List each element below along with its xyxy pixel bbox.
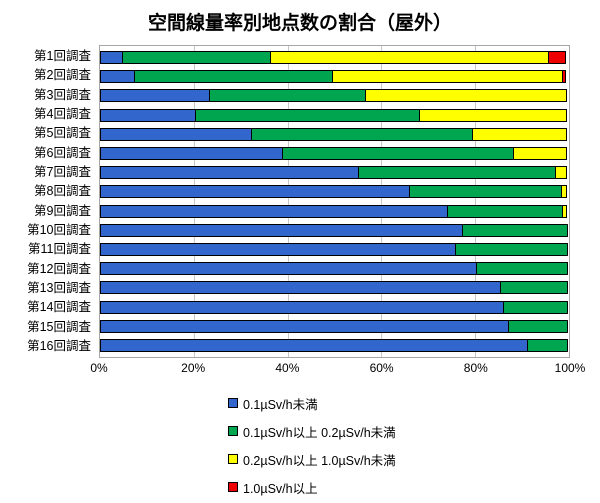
bar-row [100, 243, 569, 256]
bar-row [100, 205, 569, 218]
bar-row [100, 147, 569, 160]
y-axis-tick-label: 第15回調査 [0, 321, 95, 334]
bar-row [100, 224, 569, 237]
chart-container: 空間線量率別地点数の割合（屋外） 第1回調査第2回調査第3回調査第4回調査第5回… [0, 0, 600, 503]
bar-row [100, 109, 569, 122]
bar-segment [409, 185, 562, 198]
x-axis-tick-label: 60% [370, 361, 394, 375]
bar-segment [476, 262, 568, 275]
bar-row [100, 339, 569, 352]
bar-segment [555, 166, 567, 179]
y-axis-tick-label: 第12回調査 [0, 263, 95, 276]
bar-row [100, 185, 569, 198]
bar-row [100, 281, 569, 294]
bar-segment [513, 147, 567, 160]
x-axis-tick-label: 100% [555, 361, 586, 375]
y-axis-tick-label: 第13回調査 [0, 282, 95, 295]
bar-row [100, 262, 569, 275]
legend-color-swatch-icon [228, 426, 238, 436]
bar-segment [447, 205, 563, 218]
bar-segment [365, 89, 567, 102]
bar-segment [332, 70, 563, 83]
bar-segment [472, 128, 567, 141]
bar-row [100, 128, 569, 141]
bar-segment [100, 147, 283, 160]
y-axis-tick-label: 第1回調査 [0, 50, 95, 63]
bar-segment [100, 70, 135, 83]
x-axis-labels: 0%20%40%60%80%100% [99, 361, 570, 379]
bar-segment [561, 185, 567, 198]
y-axis-labels: 第1回調査第2回調査第3回調査第4回調査第5回調査第6回調査第7回調査第8回調査… [0, 45, 95, 358]
bar-row [100, 301, 569, 314]
bar-segment [195, 109, 420, 122]
bar-segment [100, 128, 252, 141]
bar-row [100, 89, 569, 102]
y-axis-tick-label: 第8回調査 [0, 185, 95, 198]
chart-legend: 0.1µSv/h未満0.1µSv/h以上 0.2µSv/h未満0.2µSv/h以… [228, 389, 588, 501]
y-axis-tick-label: 第3回調査 [0, 89, 95, 102]
bar-segment [455, 243, 568, 256]
bar-segment [419, 109, 567, 122]
bar-segment [100, 301, 504, 314]
bar-row [100, 166, 569, 179]
bar-row [100, 51, 569, 64]
legend-item[interactable]: 0.2µSv/h以上 1.0µSv/h未満 [228, 445, 588, 473]
bar-segment [527, 339, 568, 352]
y-axis-tick-label: 第14回調査 [0, 301, 95, 314]
bar-segment [500, 281, 568, 294]
bar-segment [100, 89, 210, 102]
y-axis-tick-label: 第6回調査 [0, 147, 95, 160]
bar-segment [100, 109, 196, 122]
x-axis-tick-label: 40% [275, 361, 299, 375]
y-axis-tick-label: 第7回調査 [0, 166, 95, 179]
bar-segment [562, 205, 567, 218]
bar-segment [209, 89, 366, 102]
bar-segment [100, 320, 509, 333]
y-axis-tick-label: 第2回調査 [0, 69, 95, 82]
x-axis-tick-label: 80% [464, 361, 488, 375]
legend-item-label: 0.1µSv/h未満 [243, 394, 318, 413]
bar-segment [548, 51, 566, 64]
y-axis-tick-label: 第16回調査 [0, 340, 95, 353]
bar-segment [562, 70, 566, 83]
bar-segment [100, 185, 410, 198]
x-axis-tick-label: 20% [181, 361, 205, 375]
legend-item-label: 0.2µSv/h以上 1.0µSv/h未満 [243, 450, 396, 469]
bar-segment [100, 51, 123, 64]
bar-segment [358, 166, 556, 179]
bar-segment [270, 51, 549, 64]
bar-segment [503, 301, 568, 314]
y-axis-tick-label: 第4回調査 [0, 108, 95, 121]
legend-item[interactable]: 1.0µSv/h以上 [228, 473, 588, 501]
bar-segment [122, 51, 271, 64]
y-axis-tick-label: 第11回調査 [0, 243, 95, 256]
bar-segment [100, 339, 528, 352]
legend-item-label: 0.1µSv/h以上 0.2µSv/h未満 [243, 422, 396, 441]
bar-segment [100, 166, 359, 179]
bar-segment [100, 243, 456, 256]
bar-series-group [100, 46, 569, 357]
bar-segment [100, 224, 463, 237]
legend-color-swatch-icon [228, 482, 238, 492]
legend-item[interactable]: 0.1µSv/h未満 [228, 389, 588, 417]
bar-row [100, 70, 569, 83]
y-axis-tick-label: 第5回調査 [0, 127, 95, 140]
bar-segment [100, 281, 501, 294]
bar-row [100, 320, 569, 333]
y-axis-tick-label: 第9回調査 [0, 205, 95, 218]
legend-color-swatch-icon [228, 398, 238, 408]
bar-segment [100, 205, 448, 218]
chart-title: 空間線量率別地点数の割合（屋外） [0, 8, 600, 35]
legend-item[interactable]: 0.1µSv/h以上 0.2µSv/h未満 [228, 417, 588, 445]
legend-color-swatch-icon [228, 454, 238, 464]
bar-segment [100, 262, 477, 275]
bar-segment [282, 147, 514, 160]
bar-segment [134, 70, 334, 83]
bar-segment [462, 224, 568, 237]
bar-segment [251, 128, 473, 141]
y-axis-tick-label: 第10回調査 [0, 224, 95, 237]
bar-segment [508, 320, 568, 333]
x-axis-tick-label: 0% [90, 361, 107, 375]
plot-area [99, 45, 570, 358]
legend-item-label: 1.0µSv/h以上 [243, 478, 318, 497]
